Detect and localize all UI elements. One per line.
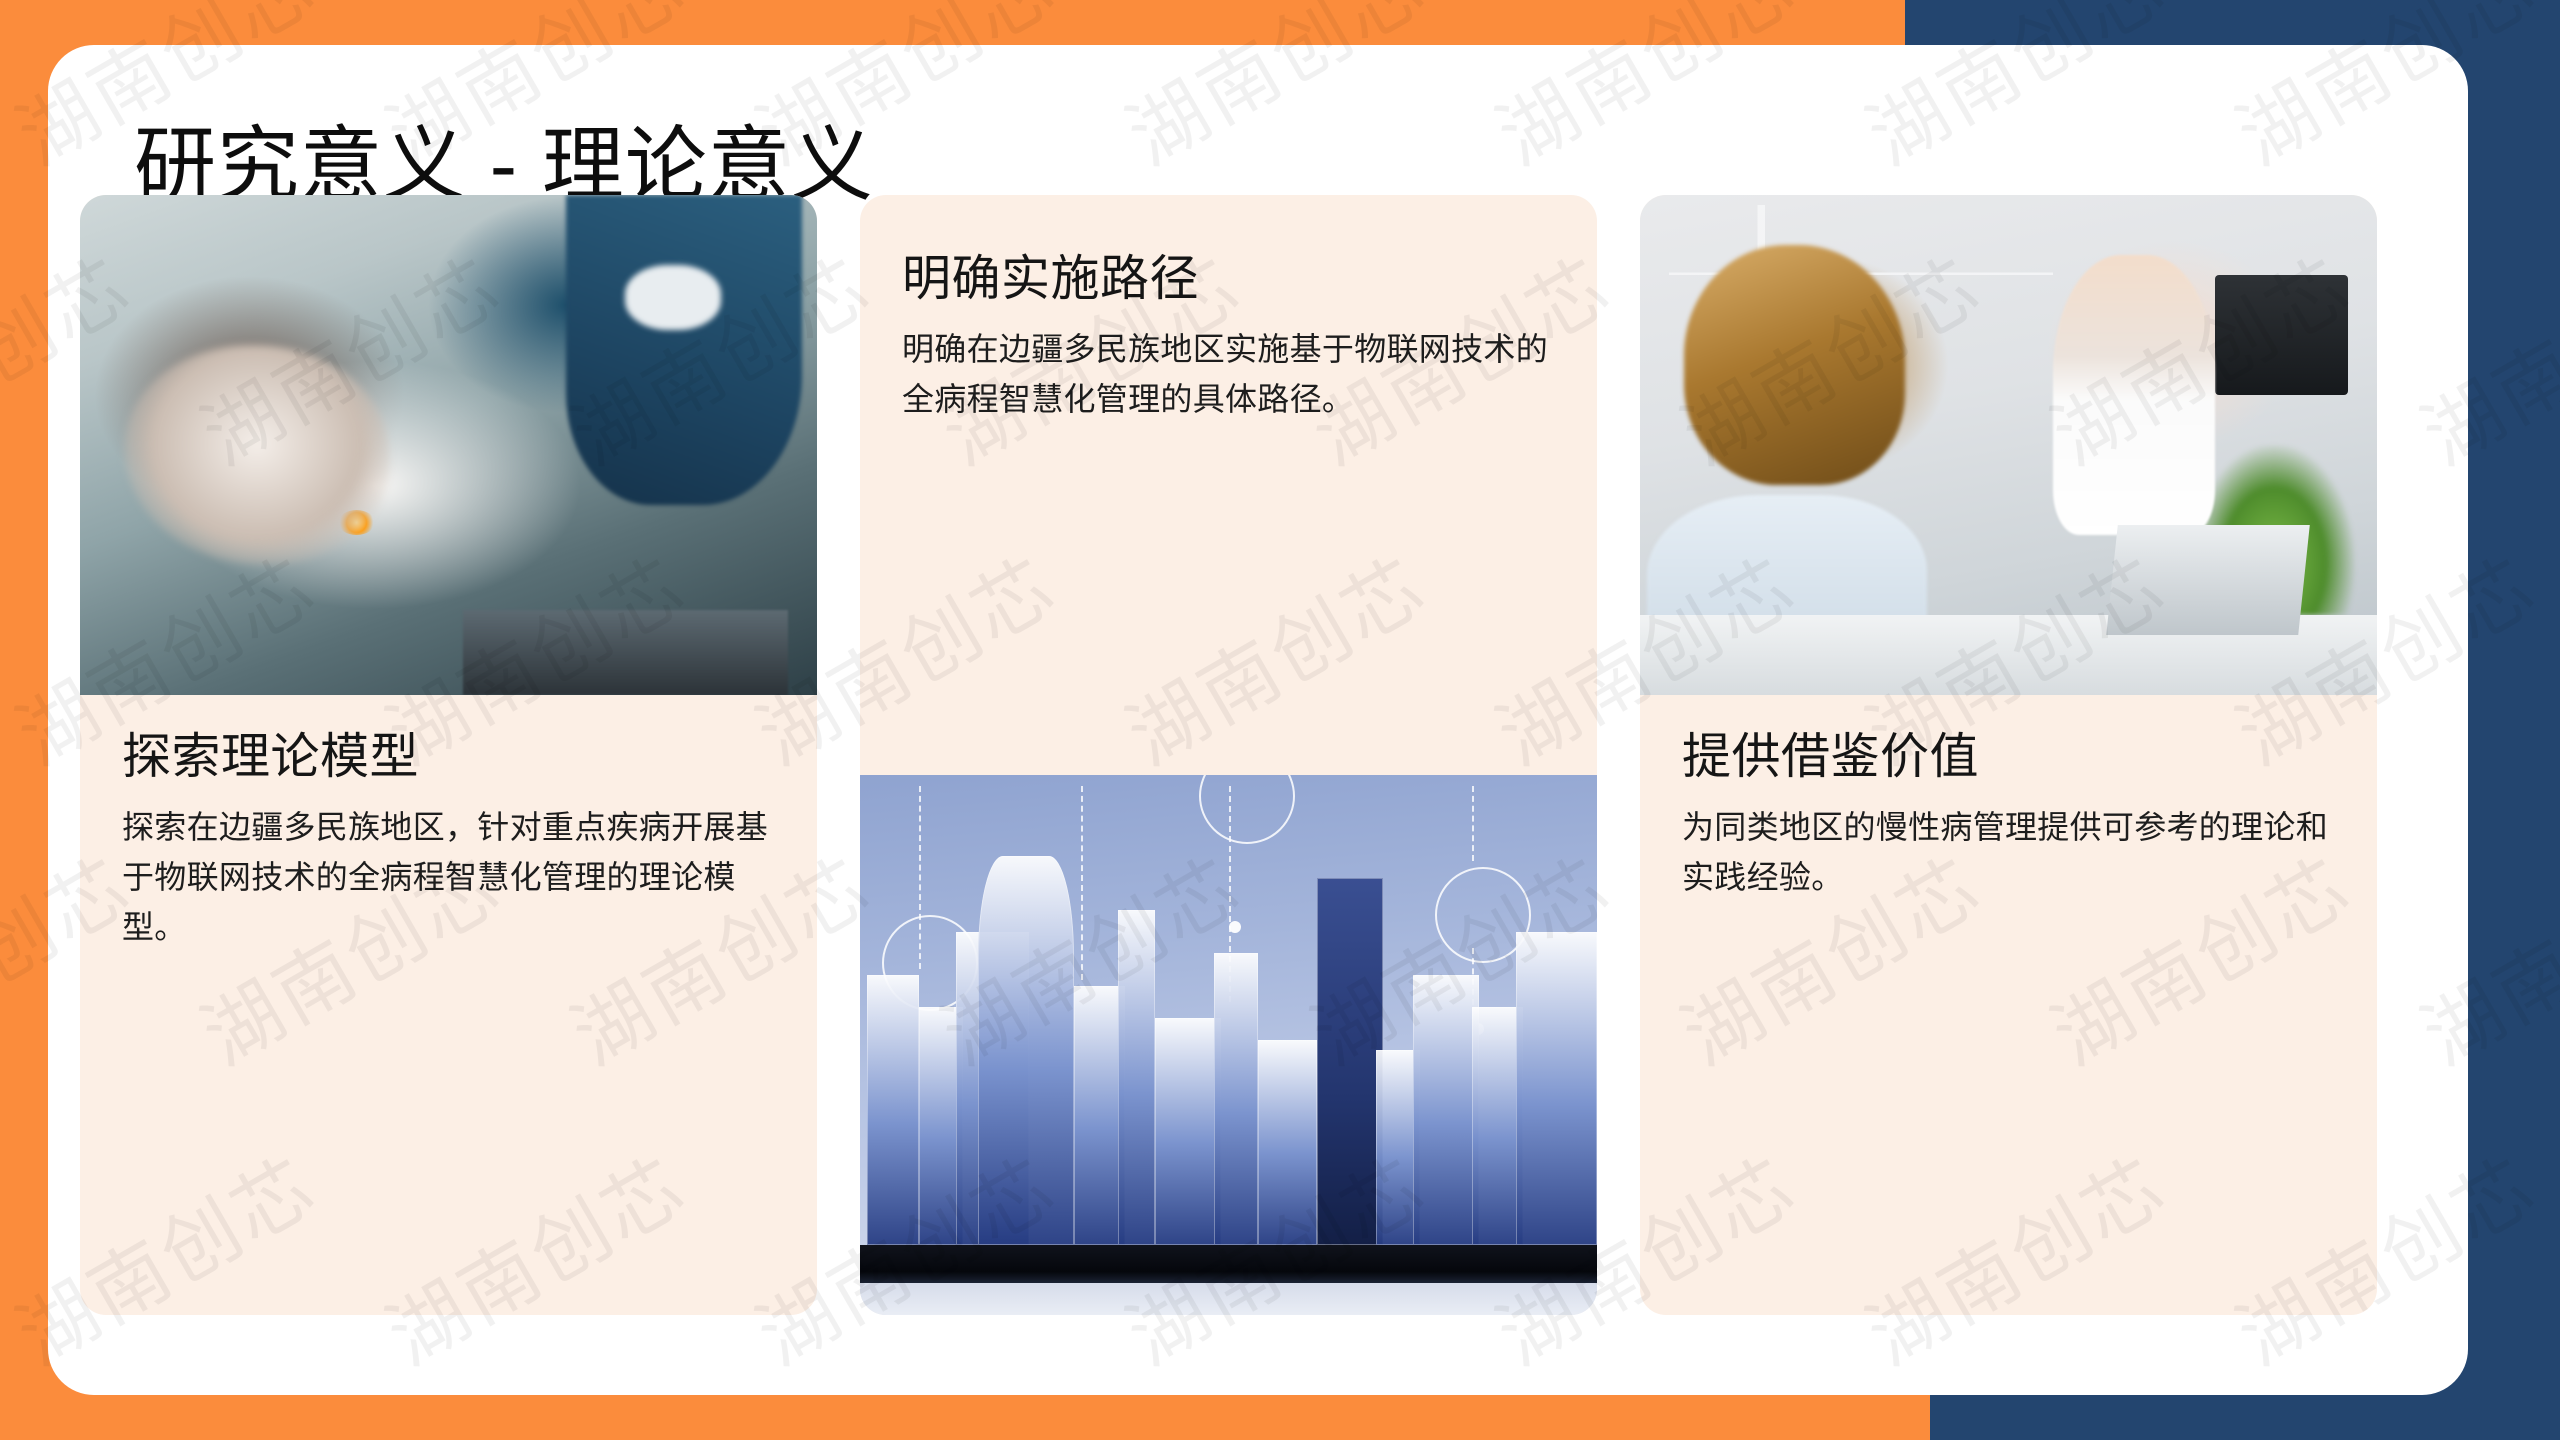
card-text-right: 提供借鉴价值 为同类地区的慢性病管理提供可参考的理论和实践经验。 — [1640, 695, 2377, 1315]
card-clarify-implementation-path[interactable]: 明确实施路径 明确在边疆多民族地区实施基于物联网技术的全病程智慧化管理的具体路径… — [860, 195, 1597, 1315]
doctor-consultation-photo — [1640, 195, 2377, 695]
card-heading-right: 提供借鉴价值 — [1682, 729, 2335, 785]
card-body-left: 探索在边疆多民族地区，针对重点疾病开展基于物联网技术的全病程智慧化管理的理论模型… — [122, 803, 775, 952]
clinic-examination-photo — [80, 195, 817, 695]
card-body-middle: 明确在边疆多民族地区实施基于物联网技术的全病程智慧化管理的具体路径。 — [902, 325, 1555, 424]
card-text-left: 探索理论模型 探索在边疆多民族地区，针对重点疾病开展基于物联网技术的全病程智慧化… — [80, 695, 817, 1315]
cards-row: 探索理论模型 探索在边疆多民族地区，针对重点疾病开展基于物联网技术的全病程智慧化… — [80, 195, 2436, 1340]
slide-content-card: 研究意义 - 理论意义 探索理论模型 探索在边疆多民族地区，针对重点疾病开展基于… — [48, 45, 2468, 1395]
card-body-right: 为同类地区的慢性病管理提供可参考的理论和实践经验。 — [1682, 803, 2335, 902]
card-provide-reference-value[interactable]: 提供借鉴价值 为同类地区的慢性病管理提供可参考的理论和实践经验。 — [1640, 195, 2377, 1315]
card-heading-left: 探索理论模型 — [122, 729, 775, 785]
card-text-middle: 明确实施路径 明确在边疆多民族地区实施基于物联网技术的全病程智慧化管理的具体路径… — [860, 195, 1597, 775]
card-heading-middle: 明确实施路径 — [902, 251, 1555, 307]
smart-city-iot-photo — [860, 775, 1597, 1315]
card-explore-theory-model[interactable]: 探索理论模型 探索在边疆多民族地区，针对重点疾病开展基于物联网技术的全病程智慧化… — [80, 195, 817, 1315]
